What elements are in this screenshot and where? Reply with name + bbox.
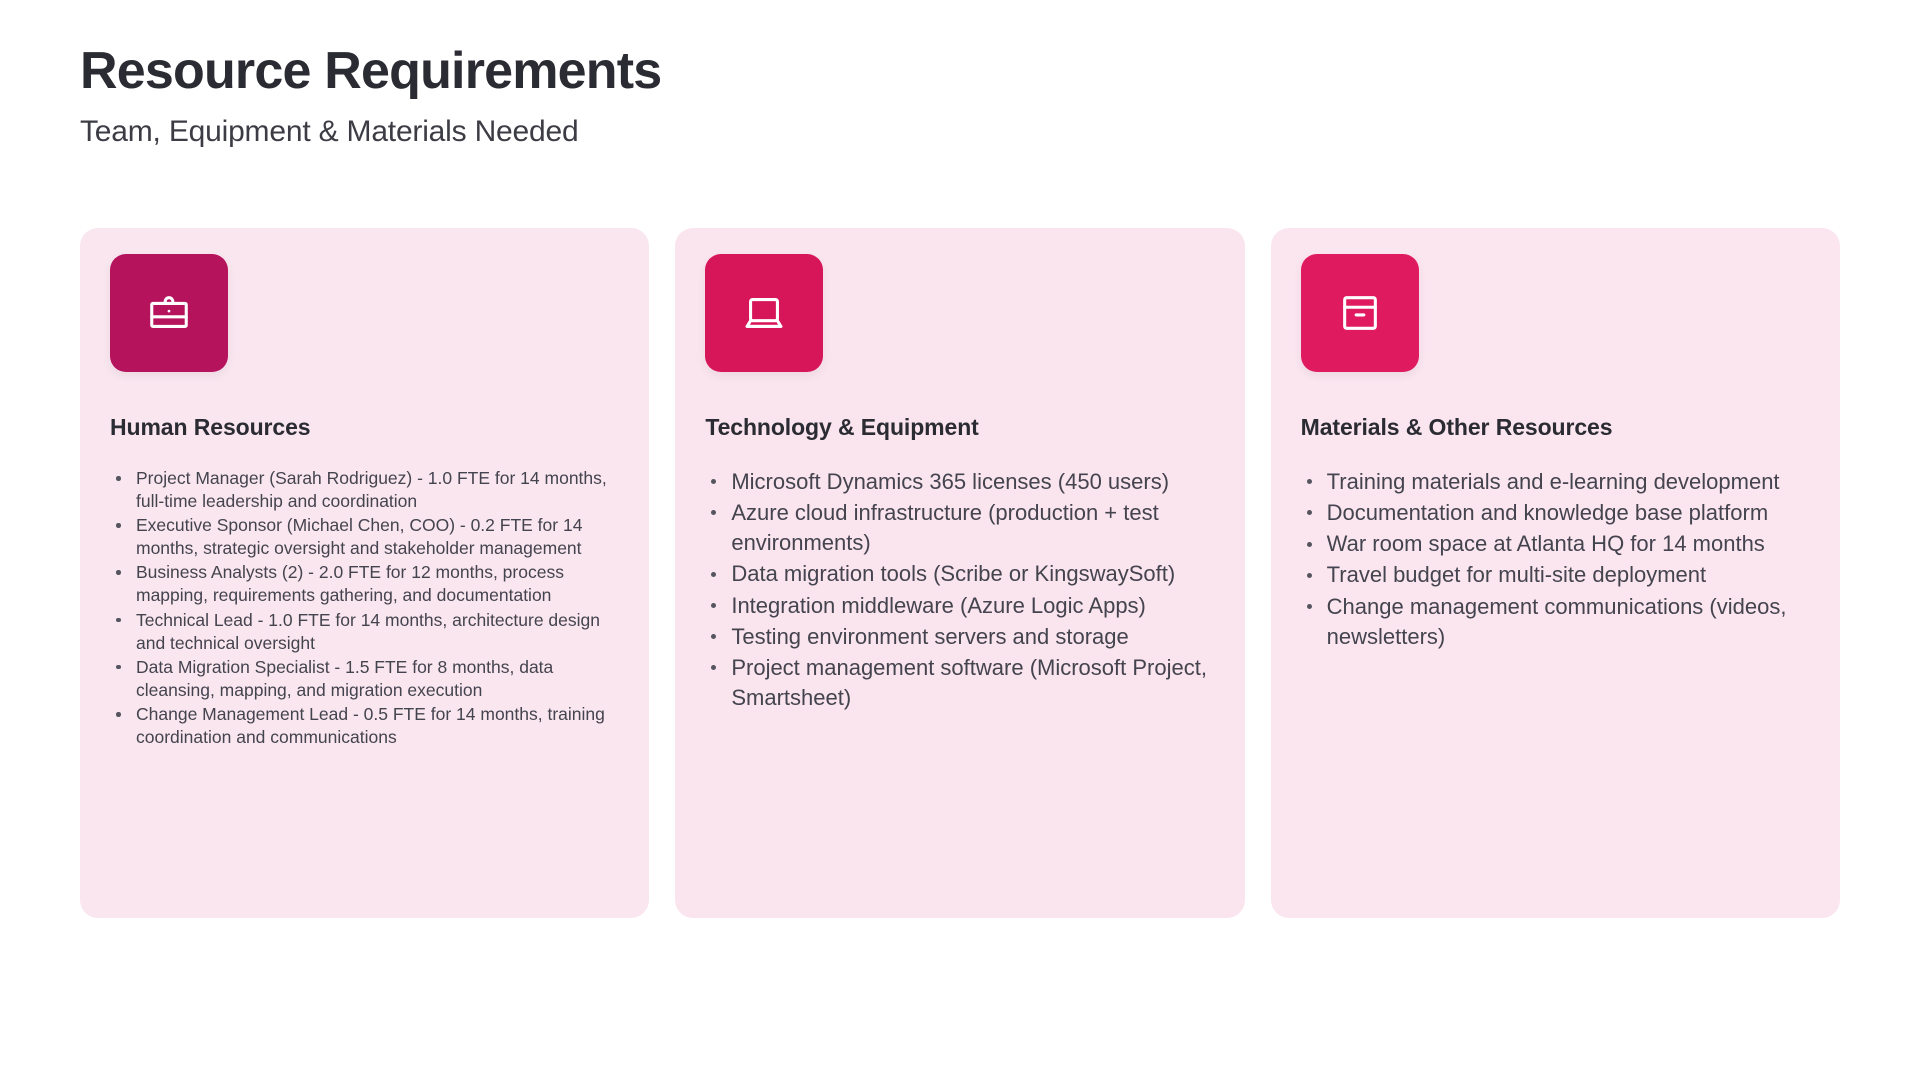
- briefcase-icon-tile: [110, 254, 228, 372]
- list-item: Documentation and knowledge base platfor…: [1301, 498, 1810, 528]
- card-title: Human Resources: [110, 414, 619, 441]
- list-item: War room space at Atlanta HQ for 14 mont…: [1301, 529, 1810, 559]
- page-title: Resource Requirements: [80, 42, 1840, 100]
- list-item: Testing environment servers and storage: [705, 622, 1214, 652]
- list-item: Travel budget for multi-site deployment: [1301, 560, 1810, 590]
- card-title: Materials & Other Resources: [1301, 414, 1810, 441]
- list-item: Training materials and e-learning develo…: [1301, 467, 1810, 497]
- laptop-icon-tile: [705, 254, 823, 372]
- laptop-icon: [741, 290, 787, 336]
- list-item: Executive Sponsor (Michael Chen, COO) - …: [110, 514, 619, 560]
- resource-cards-container: Human Resources Project Manager (Sarah R…: [80, 228, 1840, 918]
- card-bullet-list: Training materials and e-learning develo…: [1301, 467, 1810, 652]
- archive-box-icon: [1337, 290, 1383, 336]
- list-item: Technical Lead - 1.0 FTE for 14 months, …: [110, 609, 619, 655]
- list-item: Business Analysts (2) - 2.0 FTE for 12 m…: [110, 561, 619, 607]
- card-bullet-list: Project Manager (Sarah Rodriguez) - 1.0 …: [110, 467, 619, 749]
- briefcase-icon: [146, 290, 192, 336]
- card-title: Technology & Equipment: [705, 414, 1214, 441]
- list-item: Project management software (Microsoft P…: [705, 653, 1214, 713]
- list-item: Data migration tools (Scribe or Kingsway…: [705, 559, 1214, 589]
- slide-root: Resource Requirements Team, Equipment & …: [0, 0, 1920, 1080]
- list-item: Change management communications (videos…: [1301, 592, 1810, 652]
- card-bullet-list: Microsoft Dynamics 365 licenses (450 use…: [705, 467, 1214, 713]
- list-item: Integration middleware (Azure Logic Apps…: [705, 591, 1214, 621]
- list-item: Microsoft Dynamics 365 licenses (450 use…: [705, 467, 1214, 497]
- resource-card-materials-other: Materials & Other Resources Training mat…: [1271, 228, 1840, 918]
- list-item: Change Management Lead - 0.5 FTE for 14 …: [110, 703, 619, 749]
- list-item: Azure cloud infrastructure (production +…: [705, 498, 1214, 558]
- list-item: Project Manager (Sarah Rodriguez) - 1.0 …: [110, 467, 619, 513]
- list-item: Data Migration Specialist - 1.5 FTE for …: [110, 656, 619, 702]
- archive-box-icon-tile: [1301, 254, 1419, 372]
- slide-header: Resource Requirements Team, Equipment & …: [80, 42, 1840, 153]
- page-subtitle: Team, Equipment & Materials Needed: [80, 112, 1840, 153]
- resource-card-technology-equipment: Technology & Equipment Microsoft Dynamic…: [675, 228, 1244, 918]
- resource-card-human-resources: Human Resources Project Manager (Sarah R…: [80, 228, 649, 918]
